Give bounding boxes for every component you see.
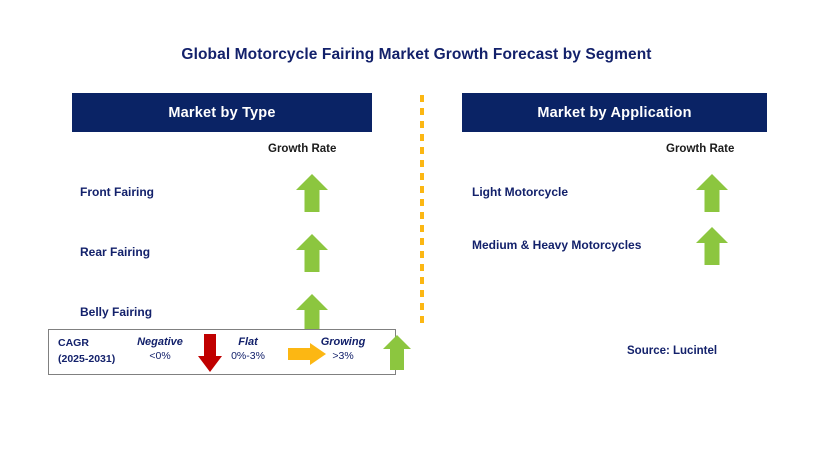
legend-item-negative: Negative <0%: [127, 336, 193, 365]
panel-header-type: Market by Type: [72, 93, 372, 132]
legend-cagr-period: (2025-2031): [58, 353, 115, 365]
table-row[interactable]: Belly Fairing: [72, 291, 372, 334]
page-title: Global Motorcycle Fairing Market Growth …: [0, 46, 833, 64]
legend-value-flat: 0%-3%: [217, 349, 279, 365]
panel-market-by-type: Market by Type Growth Rate Front Fairing…: [72, 93, 372, 132]
arrow-up-green-icon: [382, 334, 412, 376]
row-label-front-fairing: Front Fairing: [72, 184, 267, 200]
row-label-medium-heavy-motorcycles: Medium & Heavy Motorcycles: [462, 237, 667, 253]
legend-label-growing: Growing: [307, 336, 379, 349]
application-rows: Light Motorcycle Medium & Heavy Motorcyc…: [462, 171, 767, 277]
legend-label-negative: Negative: [127, 336, 193, 349]
panel-divider: [420, 95, 424, 327]
cagr-legend: CAGR (2025-2031) Negative <0% Flat 0%-3%: [48, 329, 396, 375]
legend-item-growing: Growing >3%: [307, 336, 379, 365]
table-row[interactable]: Light Motorcycle: [462, 171, 767, 214]
table-row[interactable]: Front Fairing: [72, 171, 372, 214]
panel-header-application: Market by Application: [462, 93, 767, 132]
legend-value-growing: >3%: [307, 349, 379, 365]
legend-item-flat: Flat 0%-3%: [217, 336, 279, 365]
growth-rate-column-label-type: Growth Rate: [268, 143, 336, 155]
row-label-belly-fairing: Belly Fairing: [72, 304, 267, 320]
table-row[interactable]: Medium & Heavy Motorcycles: [462, 224, 767, 267]
arrow-up-green-icon: [695, 226, 729, 266]
table-row[interactable]: Rear Fairing: [72, 231, 372, 274]
growth-rate-column-label-application: Growth Rate: [666, 143, 734, 155]
legend-label-flat: Flat: [217, 336, 279, 349]
type-rows: Front Fairing Rear Fairing Belly Fairing: [72, 171, 372, 351]
panel-market-by-application: Market by Application Growth Rate Light …: [462, 93, 767, 132]
arrow-up-green-icon: [695, 173, 729, 213]
arrow-up-green-icon: [295, 233, 329, 273]
legend-cagr-title: CAGR: [58, 337, 89, 349]
infographic-canvas: Global Motorcycle Fairing Market Growth …: [0, 0, 833, 449]
legend-value-negative: <0%: [127, 349, 193, 365]
source-label: Source: Lucintel: [627, 345, 717, 357]
row-label-light-motorcycle: Light Motorcycle: [462, 184, 667, 200]
row-label-rear-fairing: Rear Fairing: [72, 244, 267, 260]
legend-cagr-block: CAGR (2025-2031): [58, 336, 115, 368]
arrow-up-green-icon: [295, 293, 329, 333]
arrow-up-green-icon: [295, 173, 329, 213]
